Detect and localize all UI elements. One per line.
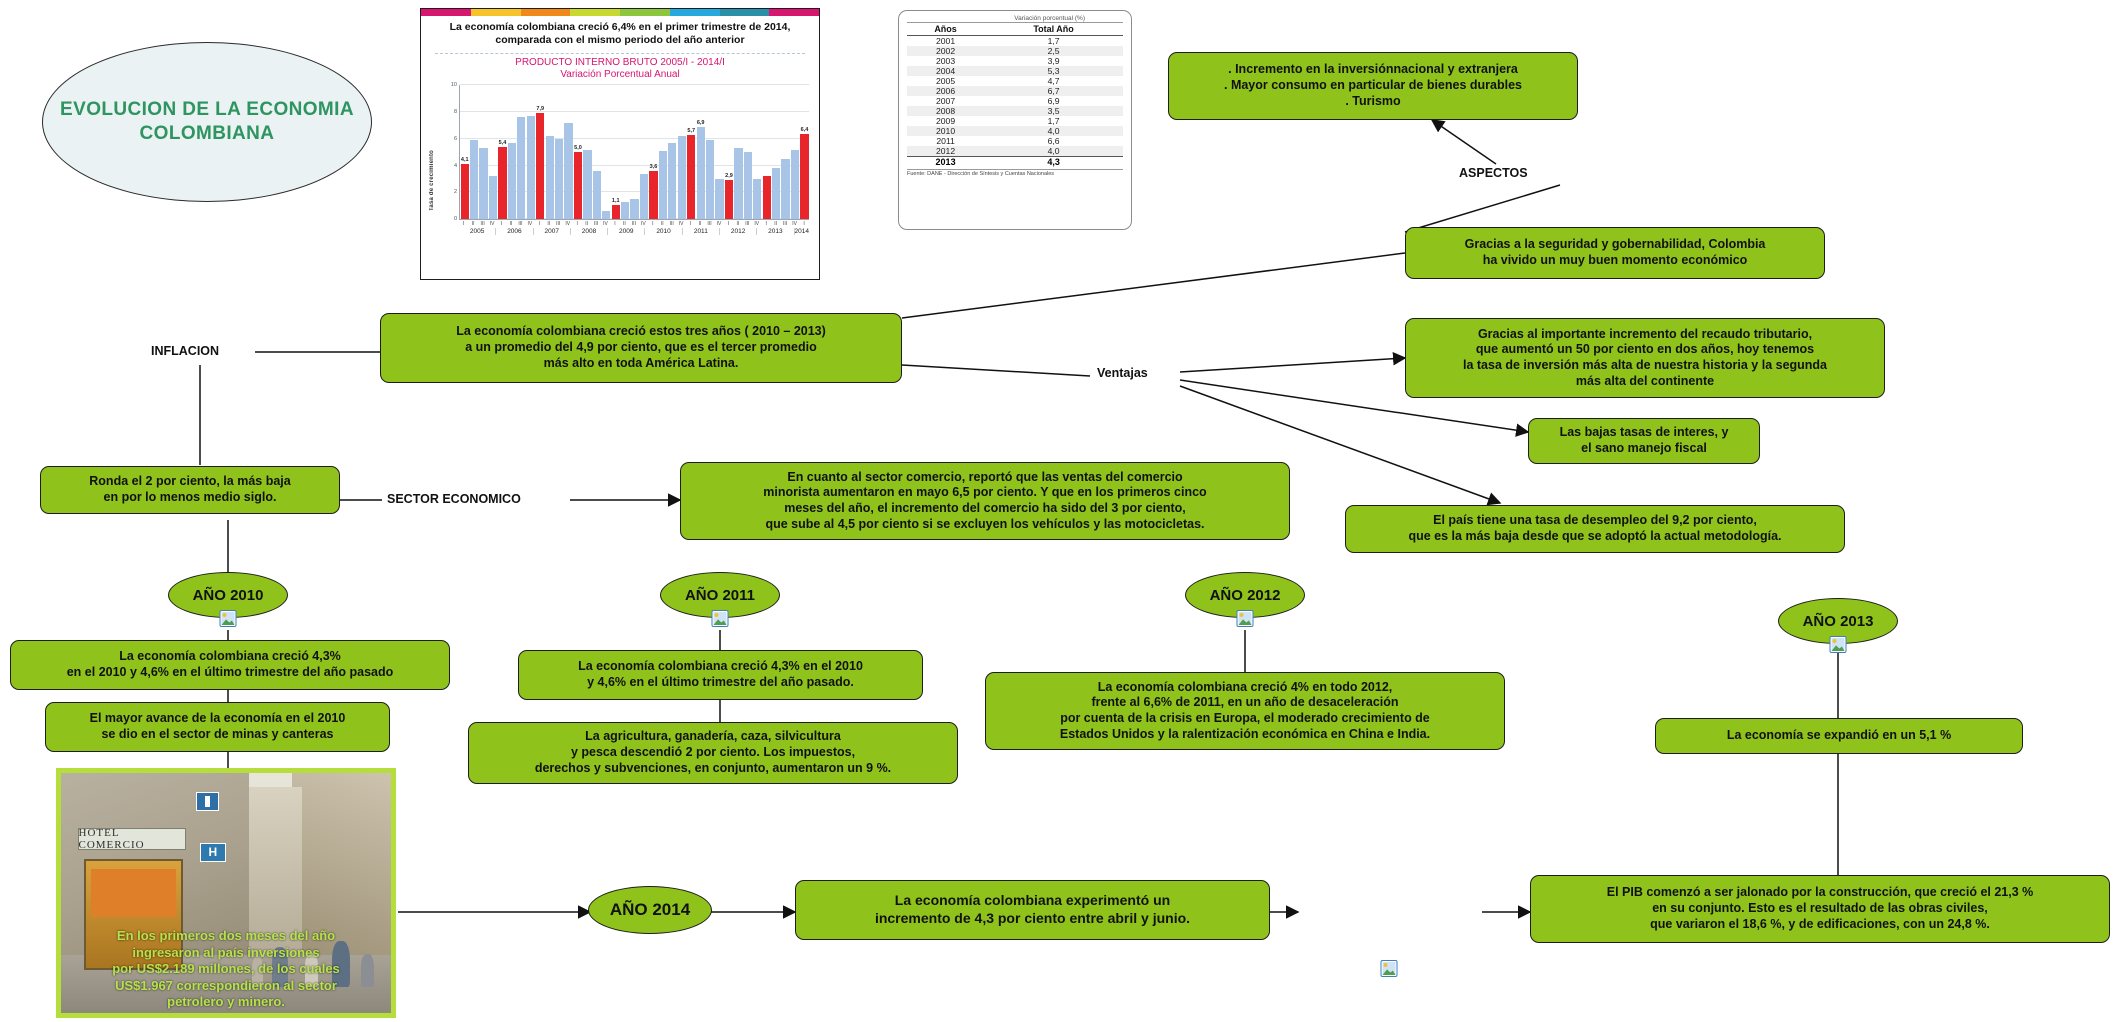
image-icon[interactable] [1381,960,1398,977]
table-cell: 2006 [907,86,984,96]
chart-quarter-tick: IV [601,221,610,227]
chart-bar [479,148,487,219]
box-2014-incremento: La economía colombiana experimentó un in… [795,880,1270,940]
chart-year-tick: 2012 [719,228,756,235]
image-icon[interactable] [712,610,729,627]
chart-divider [435,53,805,54]
chart-value-label: 7,9 [536,106,544,112]
label-sector-economico: SECTOR ECONOMICO [384,492,524,506]
chart-bar [508,143,516,219]
chart-year-tick: 2011 [682,228,719,235]
table-cell: 2011 [907,136,984,146]
chart-y-tick: 4 [454,163,457,169]
photo-overlay-text: En los primeros dos meses del año ingres… [61,928,391,1011]
chart-y-axis-title: Tasa de crecimiento [429,91,435,211]
gdp-chart-panel: La economía colombiana creció 6,4% en el… [420,8,820,280]
chart-value-label: 6,4 [801,127,809,133]
chart-bar: 5,0 [574,152,582,219]
table-cell: 5,3 [984,66,1123,76]
chart-quarter-tick: III [743,221,752,227]
table-row: 20054,7 [907,76,1123,86]
chart-quarter-tick: III [780,221,789,227]
chart-bar [781,159,789,219]
chart-bar [517,117,525,219]
chart-bar [564,123,572,219]
table-row: 20124,0 [907,146,1123,157]
chart-quarter-tick: I [572,221,581,227]
chart-bar [593,171,601,219]
chart-quarter-labels: IIIIIIIVIIIIIIIVIIIIIIIVIIIIIIIVIIIIIIIV… [459,221,809,227]
chart-bar [744,152,752,219]
chart-quarter-tick: III [667,221,676,227]
chart-bar [602,211,610,219]
table-row: 20083,5 [907,106,1123,116]
table-row: 20116,6 [907,136,1123,146]
gdp-table: Años Total Año 20011,720022,520033,92004… [907,23,1123,167]
chart-quarter-tick: IV [790,221,799,227]
chart-bar-series: 4,15,47,95,01,13,65,76,92,96,4 [460,85,809,219]
chart-quarter-tick: II [582,221,591,227]
chart-bars-region: 02468104,15,47,95,01,13,65,76,92,96,4 [459,85,809,220]
image-icon[interactable] [220,610,237,627]
node-ano-2011[interactable]: AÑO 2011 [660,572,780,624]
panel-color-bar [421,9,819,16]
chart-quarter-tick: I [497,221,506,227]
chart-quarter-tick: IV [676,221,685,227]
chart-year-tick: 2008 [570,228,607,235]
chart-year-tick: 2007 [533,228,570,235]
box-desempleo: El país tiene una tasa de desempleo del … [1345,505,1845,553]
chart-value-label: 3,6 [650,164,658,170]
chart-quarter-tick: II [506,221,515,227]
chart-bar [706,140,714,219]
table-cell: 4,7 [984,76,1123,86]
table-cell: 2004 [907,66,984,76]
table-cell: 6,7 [984,86,1123,96]
chart-quarter-tick: IV [714,221,723,227]
table-cell: 2,5 [984,46,1123,56]
table-row: 20033,9 [907,56,1123,66]
chart-quarter-tick: II [771,221,780,227]
chart-quarter-tick: IV [487,221,496,227]
chart-bar: 7,9 [536,113,544,219]
chart-year-labels: 2005200620072008200920102011201220132014 [459,228,809,235]
table-row: 20022,5 [907,46,1123,56]
chart-bar [527,116,535,219]
node-ano-2013[interactable]: AÑO 2013 [1778,598,1898,650]
table-cell: 2005 [907,76,984,86]
table-cell: 4,3 [984,157,1123,168]
box-seguridad-gobernabilidad: Gracias a la seguridad y gobernabilidad,… [1405,227,1825,279]
table-cell: 1,7 [984,36,1123,47]
box-tasas-bajas: Las bajas tasas de interes, y el sano ma… [1528,418,1760,464]
box-inflacion-valor: Ronda el 2 por ciento, la más baja en po… [40,466,340,514]
chart-plot-area: Tasa de crecimiento 02468104,15,47,95,01… [459,85,809,235]
chart-bar [678,136,686,219]
chart-quarter-tick: II [620,221,629,227]
chart-year-tick: 2006 [495,228,532,235]
chart-quarter-tick: II [544,221,553,227]
table-cell: 2009 [907,116,984,126]
box-recaudo-tributario: Gracias al importante incremento del rec… [1405,318,1885,398]
chart-bar [489,176,497,219]
chart-quarter-tick: I [610,221,619,227]
image-icon[interactable] [1237,610,1254,627]
chart-quarter-tick: I [686,221,695,227]
chart-year-tick: 2014 [794,228,809,235]
table-cell: 2002 [907,46,984,56]
table-cell: 4,0 [984,146,1123,157]
box-tres-anos-crecimiento: La economía colombiana creció estos tres… [380,313,902,383]
chart-bar [659,151,667,219]
chart-value-label: 1,1 [612,198,620,204]
chart-quarter-tick: I [535,221,544,227]
box-2011-agricultura: La agricultura, ganadería, caza, silvicu… [468,722,958,784]
box-2013-expansion: La economía se expandió en un 5,1 % [1655,718,2023,754]
chart-bar: 4,1 [461,164,469,219]
table-cell: 2001 [907,36,984,47]
table-cell: 3,5 [984,106,1123,116]
table-caption: Variación porcentual (%) [907,15,1123,23]
table-row: 20045,3 [907,66,1123,76]
table-cell: 1,7 [984,116,1123,126]
chart-quarter-tick: I [799,221,808,227]
chart-value-label: 5,4 [499,140,507,146]
chart-value-label: 4,1 [461,157,469,163]
chart-quarter-tick: I [762,221,771,227]
chart-y-tick: 0 [454,216,457,222]
table-cell: 6,9 [984,96,1123,106]
table-cell: 3,9 [984,56,1123,66]
col-header-anios: Años [907,23,984,36]
chart-bar [791,150,799,220]
chart-year-tick: 2005 [459,228,495,235]
chart-quarter-tick: II [468,221,477,227]
table-row: 20011,7 [907,36,1123,47]
chart-quarter-tick: IV [563,221,572,227]
chart-bar: 6,9 [697,127,705,219]
node-ano-2014[interactable]: AÑO 2014 [588,886,712,938]
chart-y-tick: 6 [454,136,457,142]
table-cell: 6,6 [984,136,1123,146]
node-ano-2012[interactable]: AÑO 2012 [1185,572,1305,624]
chart-quarter-tick: I [459,221,468,227]
chart-bar [555,139,563,219]
hotel-sign: HOTEL COMERCIO [78,828,187,850]
table-cell: 2007 [907,96,984,106]
chart-quarter-tick: III [478,221,487,227]
chart-subtitle: PRODUCTO INTERNO BRUTO 2005/I - 2014/I V… [421,57,819,81]
chart-bar: 6,4 [800,134,808,220]
chart-value-label: 5,0 [574,145,582,151]
table-cell: 4,0 [984,126,1123,136]
chart-y-tick: 10 [451,82,457,88]
col-header-total: Total Año [984,23,1123,36]
chart-value-label: 5,7 [687,128,695,134]
table-row: 20091,7 [907,116,1123,126]
chart-year-tick: 2009 [607,228,644,235]
table-cell: 2013 [907,157,984,168]
chart-bar [470,140,478,219]
chart-y-tick: 8 [454,109,457,115]
chart-year-tick: 2013 [756,228,793,235]
chart-quarter-tick: II [733,221,742,227]
box-2011-crecimiento: La economía colombiana creció 4,3% en el… [518,650,923,700]
chart-quarter-tick: IV [752,221,761,227]
chart-bar [640,174,648,220]
chart-bar [630,199,638,219]
ano-2014-ellipse[interactable]: AÑO 2014 [588,886,712,934]
table-cell: 2008 [907,106,984,116]
chart-quarter-tick: III [554,221,563,227]
hotel-h-badge: H [200,843,226,862]
chart-value-label: 2,9 [725,173,733,179]
chart-quarter-tick: I [724,221,733,227]
chart-quarter-tick: III [516,221,525,227]
chart-bar [772,168,780,219]
image-icon[interactable] [1830,636,1847,653]
chart-bar [715,179,723,219]
chart-bar: 2,9 [725,180,733,219]
table-total-row: 20134,3 [907,157,1123,168]
table-cell: 2012 [907,146,984,157]
table-row: 20104,0 [907,126,1123,136]
box-2010-crecimiento: La economía colombiana creció 4,3% en el… [10,640,450,690]
label-aspectos: ASPECTOS [1456,166,1531,180]
chart-quarter-tick: III [705,221,714,227]
box-2012-desaceleracion: La economía colombiana creció 4% en todo… [985,672,1505,750]
box-2010-minas-canteras: El mayor avance de la economía en el 201… [45,702,390,752]
chart-y-tick: 2 [454,189,457,195]
chart-quarter-tick: II [658,221,667,227]
chart-quarter-tick: IV [639,221,648,227]
chart-bar: 1,1 [612,205,620,220]
label-ventajas: Ventajas [1094,366,1151,380]
chart-bar: 5,7 [687,135,695,219]
node-ano-2010[interactable]: AÑO 2010 [168,572,288,624]
chart-bar [668,143,676,219]
table-row: 20066,7 [907,86,1123,96]
concept-map-canvas: EVOLUCION DE LA ECONOMIA COLOMBIANA La e… [0,0,2123,1022]
chart-headline: La economía colombiana creció 6,4% en el… [421,16,819,49]
chart-bar [621,202,629,219]
table-cell: 2010 [907,126,984,136]
table-row: 20076,9 [907,96,1123,106]
chart-bar [583,150,591,220]
chart-bar [734,148,742,219]
chart-bar [753,179,761,219]
table-header-row: Años Total Año [907,23,1123,36]
box-aspectos-list: . Incremento en la inversiónnacional y e… [1168,52,1578,120]
box-pib-construccion: El PIB comenzó a ser jalonado por la con… [1530,875,2110,943]
road-sign-icon [196,792,219,811]
label-inflacion: INFLACION [148,344,222,358]
chart-year-tick: 2010 [644,228,681,235]
gdp-table-panel: Variación porcentual (%) Años Total Año … [898,10,1132,230]
chart-quarter-tick: III [591,221,600,227]
chart-bar: 5,4 [498,147,506,219]
chart-quarter-tick: III [629,221,638,227]
table-cell: 2003 [907,56,984,66]
chart-bar: 3,6 [649,171,657,219]
chart-bar [546,136,554,219]
table-source: Fuente: DANE - Dirección de Síntesis y C… [907,169,1123,177]
hotel-comercio-photo: HOTEL COMERCIO H En los primeros dos mes… [56,768,396,1018]
chart-quarter-tick: II [695,221,704,227]
chart-value-label: 6,9 [697,120,705,126]
page-title: EVOLUCION DE LA ECONOMIA COLOMBIANA [42,42,372,202]
chart-bar [763,176,771,219]
chart-quarter-tick: I [648,221,657,227]
chart-quarter-tick: IV [525,221,534,227]
box-sector-comercio: En cuanto al sector comercio, reportó qu… [680,462,1290,540]
